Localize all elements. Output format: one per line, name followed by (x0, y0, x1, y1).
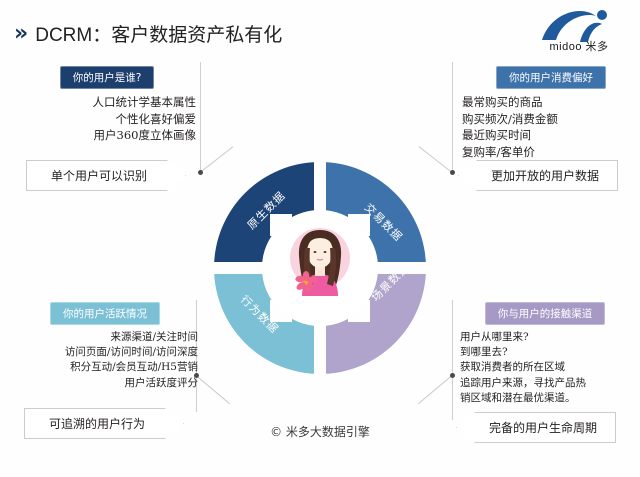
footer-caption: © 米多大数据引擎 (0, 423, 640, 440)
info-block-top-right: 你的用户消费偏好 最常购买的商品 购买频次/消费金额 最近购买时间 复购率/客单… (462, 66, 640, 161)
banner-top-right[interactable]: 更加开放的用户数据 (458, 160, 618, 191)
line-item: 到哪里去? (460, 345, 638, 360)
line-item: 复购率/客单价 (462, 144, 640, 161)
badge-top-right[interactable]: 你的用户消费偏好 (496, 66, 606, 89)
double-chevron-right-icon: » (14, 23, 25, 45)
connector-dot-top-right (450, 170, 455, 175)
badge-row: 你与用户的接触渠道 (452, 302, 638, 325)
midoo-logo: midoo 米多 (536, 6, 622, 54)
line-item: 人口统计学基本属性 (18, 94, 196, 111)
guide-line-right-top (452, 62, 453, 172)
line-item: 访问页面/访问时间/访问深度 (12, 345, 198, 360)
line-item: 追踪用户来源，寻找产品热 (460, 376, 638, 391)
line-item: 购买频次/消费金额 (462, 111, 640, 128)
page-header: » DCRM：客户数据资产私有化 (14, 20, 282, 47)
lines-bottom-left: 来源渠道/关注时间 访问页面/访问时间/访问深度 积分互动/会员互动/H5营销 … (12, 330, 198, 391)
banner-top-left[interactable]: 单个用户可以识别 (26, 160, 186, 191)
logo-text: midoo 米多 (536, 38, 622, 54)
badge-top-left[interactable]: 你的用户是谁? (60, 66, 155, 89)
badge-row: 你的用户活跃情况 (12, 302, 198, 325)
line-item: 最近购买时间 (462, 127, 640, 144)
info-block-bottom-right: 你与用户的接触渠道 用户从哪里来? 到哪里去? 获取消费者的所在区域 追踪用户来… (452, 302, 638, 406)
line-item: 最常购买的商品 (462, 94, 640, 111)
badge-bottom-left[interactable]: 你的用户活跃情况 (50, 302, 160, 325)
lines-top-left: 人口统计学基本属性 个性化喜好偏爱 用户360度立体画像 (18, 94, 196, 144)
line-item: 积分互动/会员互动/H5营销 (12, 360, 198, 375)
line-item: 来源渠道/关注时间 (12, 330, 198, 345)
lines-top-right: 最常购买的商品 购买频次/消费金额 最近购买时间 复购率/客单价 (462, 94, 640, 161)
line-item: 用户360度立体画像 (18, 127, 196, 144)
info-block-bottom-left: 你的用户活跃情况 来源渠道/关注时间 访问页面/访问时间/访问深度 积分互动/会… (12, 302, 198, 391)
line-item: 获取消费者的所在区域 (460, 360, 638, 375)
lines-bottom-right: 用户从哪里来? 到哪里去? 获取消费者的所在区域 追踪用户来源，寻找产品热 销区… (452, 330, 638, 406)
female-user-avatar-icon (286, 222, 354, 296)
line-item: 用户从哪里来? (460, 330, 638, 345)
slide-canvas: » DCRM：客户数据资产私有化 midoo 米多 你的用户是谁? 人口统计学基… (0, 0, 640, 477)
badge-bottom-right[interactable]: 你与用户的接触渠道 (485, 302, 606, 325)
badge-row: 你的用户消费偏好 (462, 66, 640, 89)
line-item: 用户活跃度评分 (12, 376, 198, 391)
badge-row: 你的用户是谁? (18, 66, 196, 89)
line-item: 个性化喜好偏爱 (18, 111, 196, 128)
info-block-top-left: 你的用户是谁? 人口统计学基本属性 个性化喜好偏爱 用户360度立体画像 (18, 66, 196, 144)
page-title: DCRM：客户数据资产私有化 (35, 20, 282, 47)
line-item: 销区域和潜在最优渠道。 (460, 391, 638, 406)
